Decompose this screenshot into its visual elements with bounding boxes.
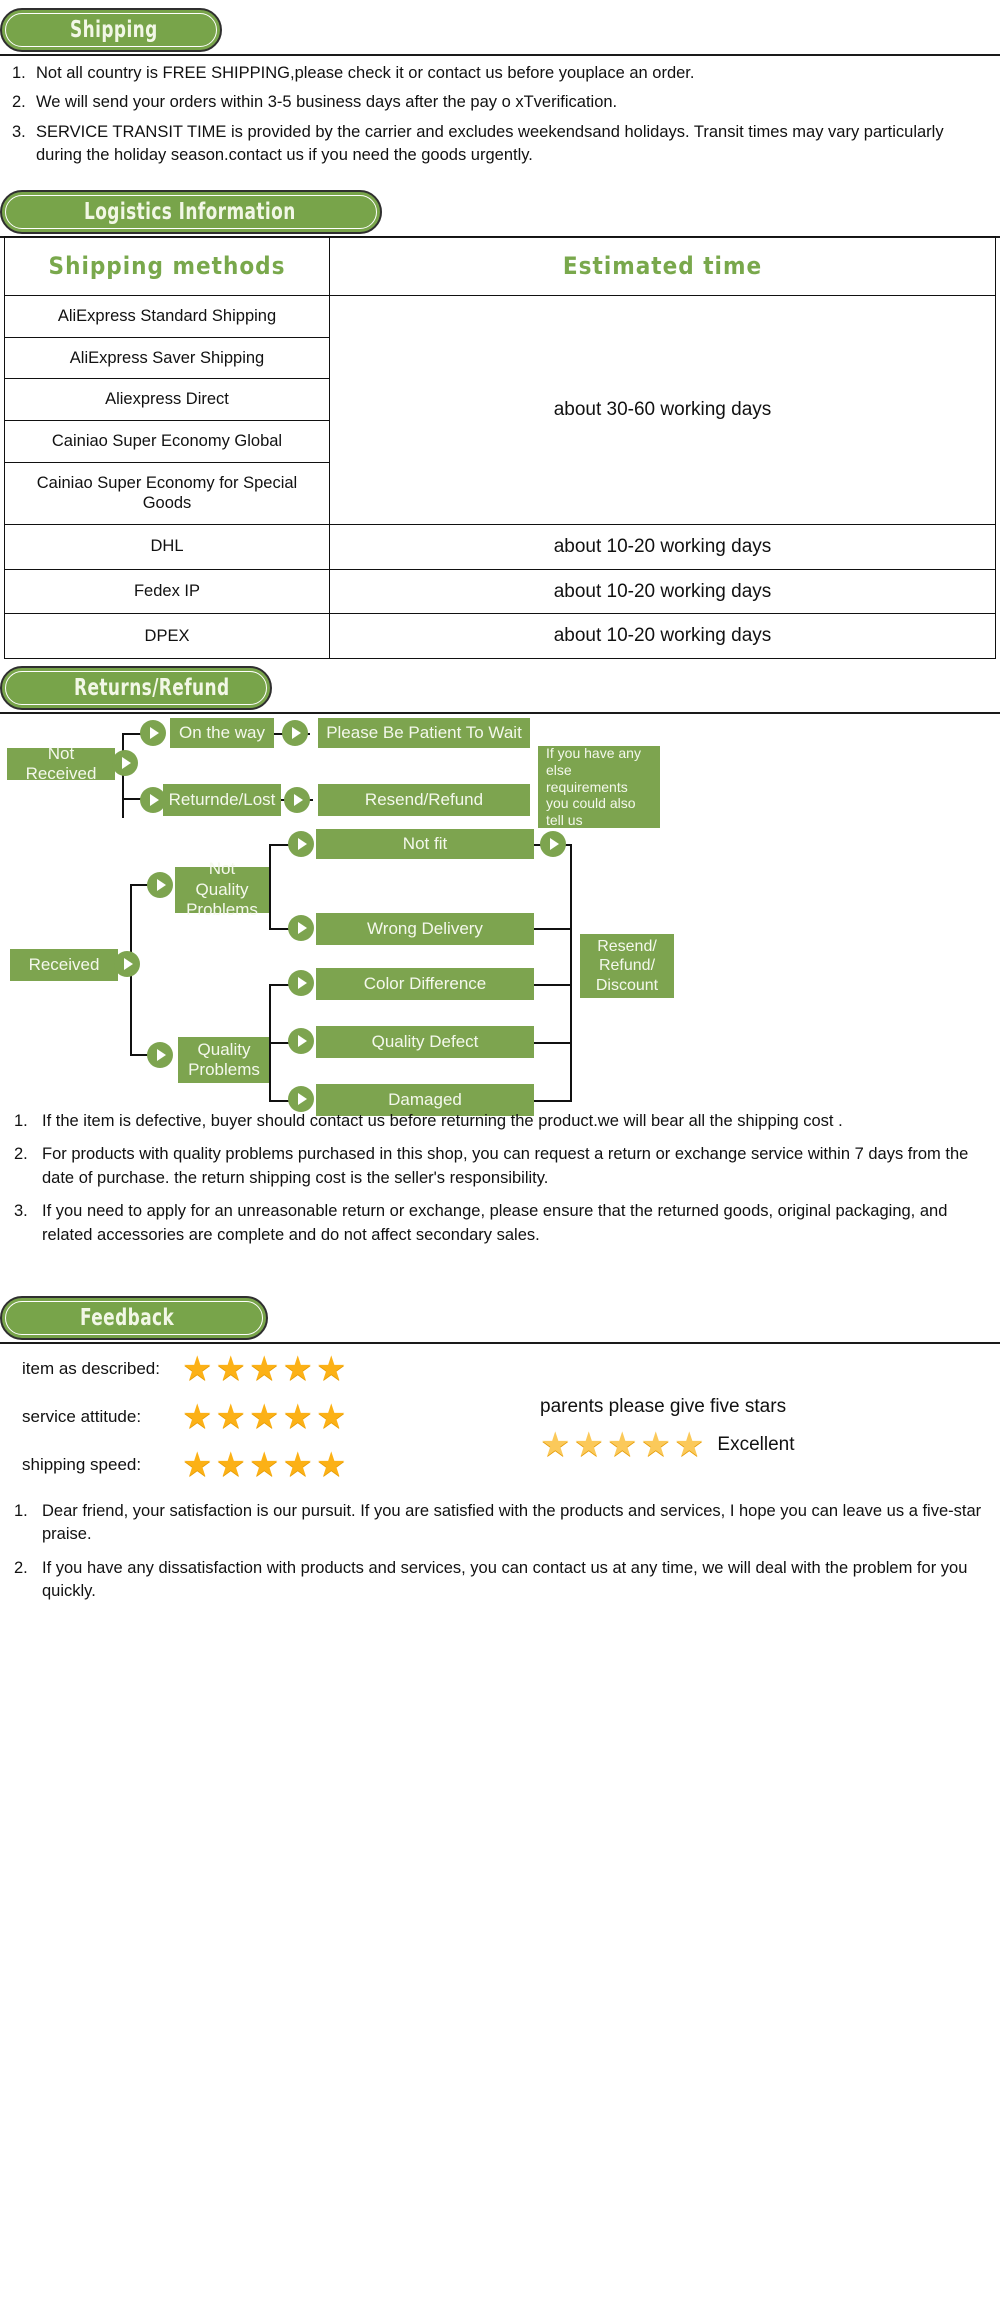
feedback-banner-pill: Feedback (0, 1296, 268, 1340)
star-icon: ★ (215, 1352, 245, 1386)
method-cell: Cainiao Super Economy for Special Goods (5, 462, 330, 524)
node-resend-refund-discount[interactable]: Resend/ Refund/ Discount (580, 934, 674, 998)
star-icon: ★ (249, 1448, 279, 1482)
arrow-icon (147, 872, 173, 898)
promo-block: parents please give five stars ★★★★★ Exc… (540, 1396, 980, 1462)
method-cell: DHL (5, 524, 330, 569)
returns-notes: 1. If the item is defective, buyer shoul… (14, 1110, 986, 1253)
arrow-icon (288, 915, 314, 941)
feedback-note-1-text: Dear friend, your satisfaction is our pu… (42, 1500, 986, 1547)
arrow-icon (112, 750, 138, 776)
feedback-note-1-num: 1. (14, 1500, 28, 1523)
returns-note-1: 1. If the item is defective, buyer shoul… (14, 1110, 986, 1133)
feedback-note-2-num: 2. (14, 1557, 28, 1580)
node-resend-refund[interactable]: Resend/Refund (318, 784, 530, 816)
shipping-note-1-text: Not all country is FREE SHIPPING,please … (36, 62, 988, 85)
connector (534, 1042, 572, 1044)
node-quality-defect[interactable]: Quality Defect (316, 1026, 534, 1058)
shipping-banner-pill: Shipping (0, 8, 222, 52)
returns-banner-pill: Returns/Refund (0, 666, 272, 710)
table-row: DHL about 10-20 working days (5, 524, 996, 569)
star-icon: ★ (316, 1448, 346, 1482)
feedback-note-2-text: If you have any dissatisfaction with pro… (42, 1557, 986, 1604)
returns-note-2-num: 2. (14, 1143, 28, 1166)
method-cell: AliExpress Saver Shipping (5, 337, 330, 379)
col-header-estimated-time: Estimated time (330, 237, 996, 296)
promo-excellent-label: Excellent (717, 1434, 794, 1456)
table-row: DPEX about 10-20 working days (5, 614, 996, 659)
connector (570, 844, 572, 1100)
arrow-icon (288, 1028, 314, 1054)
arrow-icon (288, 831, 314, 857)
arrow-icon (140, 787, 166, 813)
star-icon: ★ (573, 1428, 603, 1462)
node-received[interactable]: Received (10, 949, 118, 981)
shipping-note-1-num: 1. (12, 62, 26, 85)
col-header-shipping-methods: Shipping methods (5, 237, 330, 296)
promo-stars: ★★★★★ (540, 1428, 707, 1462)
star-icon: ★ (282, 1400, 312, 1434)
shipping-note-3: 3. SERVICE TRANSIT TIME is provided by t… (12, 121, 988, 168)
returns-note-1-text: If the item is defective, buyer should c… (42, 1110, 986, 1133)
star-icon: ★ (674, 1428, 704, 1462)
shipping-note-1: 1. Not all country is FREE SHIPPING,plea… (12, 62, 988, 85)
returns-note-1-num: 1. (14, 1110, 28, 1133)
node-not-quality-problems[interactable]: Not Quality Problems (175, 867, 269, 913)
rating-stars: ★★★★★ (182, 1448, 349, 1482)
shipping-note-2-text: We will send your orders within 3-5 busi… (36, 91, 988, 114)
node-quality-problems[interactable]: Quality Problems (178, 1037, 270, 1083)
table-header-row: Shipping methods Estimated time (5, 237, 996, 296)
feedback-note-2: 2. If you have any dissatisfaction with … (14, 1557, 986, 1604)
rating-stars: ★★★★★ (182, 1400, 349, 1434)
arrow-icon (288, 1086, 314, 1112)
feedback-banner: Feedback (0, 1296, 1000, 1348)
arrow-icon (147, 1042, 173, 1068)
star-icon: ★ (182, 1352, 212, 1386)
logistics-banner-pill: Logistics Information (0, 190, 382, 234)
feedback-notes: 1. Dear friend, your satisfaction is our… (14, 1500, 986, 1610)
arrow-icon (114, 951, 140, 977)
star-icon: ★ (640, 1428, 670, 1462)
node-not-fit[interactable]: Not fit (316, 829, 534, 859)
shipping-banner: Shipping (0, 8, 1000, 60)
star-icon: ★ (249, 1400, 279, 1434)
star-icon: ★ (182, 1400, 212, 1434)
shipping-note-2-num: 2. (12, 91, 26, 114)
returns-note-3-text: If you need to apply for an unreasonable… (42, 1200, 986, 1247)
promo-text: parents please give five stars (540, 1396, 980, 1418)
table-row: AliExpress Standard Shipping about 30-60… (5, 296, 996, 338)
star-icon: ★ (607, 1428, 637, 1462)
returns-title: Returns/Refund (74, 675, 230, 701)
method-cell: Fedex IP (5, 569, 330, 614)
rating-row-service-attitude: service attitude: ★★★★★ (22, 1400, 522, 1434)
node-please-be-patient[interactable]: Please Be Patient To Wait (318, 718, 530, 748)
table-row: Fedex IP about 10-20 working days (5, 569, 996, 614)
node-any-else-requirements[interactable]: If you have any else requirements you co… (538, 746, 660, 828)
rating-label: service attitude: (22, 1407, 182, 1427)
star-icon: ★ (282, 1352, 312, 1386)
logistics-title: Logistics Information (84, 199, 296, 225)
node-on-the-way[interactable]: On the way (170, 718, 274, 748)
method-cell: AliExpress Standard Shipping (5, 296, 330, 338)
rating-row-item-as-described: item as described: ★★★★★ (22, 1352, 522, 1386)
rating-row-shipping-speed: shipping speed: ★★★★★ (22, 1448, 522, 1482)
rating-label: item as described: (22, 1359, 182, 1379)
estimated-time-merged-cell: about 30-60 working days (330, 296, 996, 525)
returns-banner: Returns/Refund (0, 666, 1000, 718)
banner-rule (0, 54, 1000, 56)
logistics-table: Shipping methods Estimated time AliExpre… (4, 236, 996, 659)
node-not-received[interactable]: Not Received (7, 748, 115, 780)
connector (269, 844, 271, 930)
banner-rule (0, 1342, 1000, 1344)
returns-note-2: 2. For products with quality problems pu… (14, 1143, 986, 1190)
promo-stars-row: ★★★★★ Excellent (540, 1428, 980, 1462)
node-wrong-delivery[interactable]: Wrong Delivery (316, 913, 534, 945)
method-cell: Cainiao Super Economy Global (5, 420, 330, 462)
shipping-title: Shipping (70, 17, 158, 43)
shipping-note-3-text: SERVICE TRANSIT TIME is provided by the … (36, 121, 988, 168)
star-icon: ★ (249, 1352, 279, 1386)
star-icon: ★ (215, 1400, 245, 1434)
rating-stars: ★★★★★ (182, 1352, 349, 1386)
feedback-note-1: 1. Dear friend, your satisfaction is our… (14, 1500, 986, 1547)
star-icon: ★ (316, 1400, 346, 1434)
estimated-time-cell: about 10-20 working days (330, 614, 996, 659)
connector (534, 984, 572, 986)
star-icon: ★ (182, 1448, 212, 1482)
connector (534, 1100, 572, 1102)
arrow-icon (540, 831, 566, 857)
logistics-banner: Logistics Information (0, 190, 1000, 242)
arrow-icon (282, 720, 308, 746)
returns-note-3-num: 3. (14, 1200, 28, 1223)
connector (534, 928, 572, 930)
shipping-notes: 1. Not all country is FREE SHIPPING,plea… (12, 62, 988, 174)
rating-label: shipping speed: (22, 1455, 182, 1475)
star-icon: ★ (215, 1448, 245, 1482)
shipping-note-2: 2. We will send your orders within 3-5 b… (12, 91, 988, 114)
returns-note-3: 3. If you need to apply for an unreasona… (14, 1200, 986, 1247)
node-color-difference[interactable]: Color Difference (316, 968, 534, 1000)
estimated-time-cell: about 10-20 working days (330, 569, 996, 614)
estimated-time-cell: about 10-20 working days (330, 524, 996, 569)
feedback-title: Feedback (80, 1305, 174, 1331)
ratings-list: item as described: ★★★★★ service attitud… (22, 1352, 522, 1486)
returns-note-2-text: For products with quality problems purch… (42, 1143, 986, 1190)
arrow-icon (288, 970, 314, 996)
method-cell: Aliexpress Direct (5, 379, 330, 421)
shipping-note-3-num: 3. (12, 121, 26, 144)
arrow-icon (284, 787, 310, 813)
method-cell: DPEX (5, 614, 330, 659)
star-icon: ★ (316, 1352, 346, 1386)
arrow-icon (140, 720, 166, 746)
star-icon: ★ (540, 1428, 570, 1462)
star-icon: ★ (282, 1448, 312, 1482)
returns-flowchart: Not Received On the way Please Be Patien… (0, 712, 1000, 1114)
node-returned-lost[interactable]: Returnde/Lost (163, 784, 281, 816)
product-policy-page: Shipping 1. Not all country is FREE SHIP… (0, 0, 1000, 2297)
